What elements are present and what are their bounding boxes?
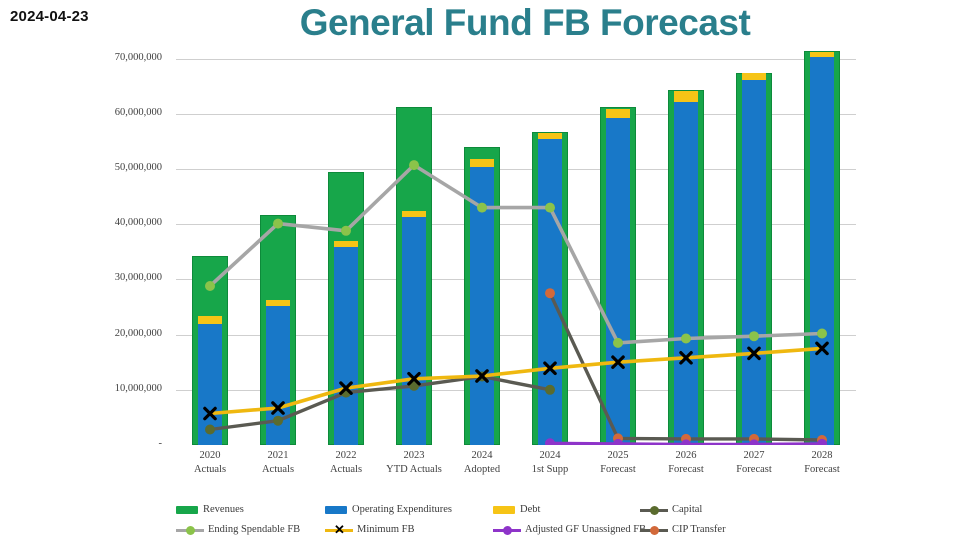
bar-segment-debt[interactable] — [198, 316, 223, 324]
y-axis-tick-label: - — [2, 438, 162, 449]
x-axis-label-year: 2027 — [720, 449, 788, 463]
x-axis-tick-label: 2023YTD Actuals — [380, 449, 448, 477]
bar-category[interactable] — [652, 42, 720, 445]
legend-swatch-icon — [325, 506, 347, 514]
bar-category[interactable] — [176, 42, 244, 445]
legend-label: Adjusted GF Unassigned FB — [525, 524, 646, 535]
bar-category[interactable] — [380, 42, 448, 445]
legend-item-capital[interactable]: Capital — [640, 504, 702, 515]
legend-line-icon — [640, 525, 668, 535]
x-axis-label-year: 2023 — [380, 449, 448, 463]
legend-swatch-icon — [176, 506, 198, 514]
x-axis-tick-label: 2020Actuals — [176, 449, 244, 477]
bar-category[interactable] — [788, 42, 856, 445]
bar-segment-operating-expenditures[interactable] — [742, 80, 767, 445]
bar-category[interactable] — [244, 42, 312, 445]
legend-line-icon — [640, 505, 668, 515]
bar-segment-operating-expenditures[interactable] — [266, 306, 291, 445]
bar-segment-operating-expenditures[interactable] — [538, 139, 563, 445]
legend-line-icon — [493, 525, 521, 535]
bar-segment-operating-expenditures[interactable] — [470, 167, 495, 445]
x-axis-tick-label: 2027Forecast — [720, 449, 788, 477]
legend-label: Minimum FB — [357, 524, 414, 535]
bar-segment-debt[interactable] — [402, 211, 427, 217]
x-axis-label-scenario: Actuals — [176, 463, 244, 477]
bar-expenditure-stack[interactable] — [470, 158, 495, 445]
x-axis-label-year: 2021 — [244, 449, 312, 463]
x-axis-label-year: 2024 — [516, 449, 584, 463]
bar-segment-debt[interactable] — [742, 73, 767, 79]
chart-screen: 2024-04-23 General Fund FB Forecast 70,0… — [0, 0, 960, 540]
x-axis-label-scenario: Actuals — [312, 463, 380, 477]
y-axis-tick-label: 10,000,000 — [2, 383, 162, 394]
x-axis-label-year: 2026 — [652, 449, 720, 463]
x-axis-label-scenario: Forecast — [788, 463, 856, 477]
x-axis-label-scenario: Forecast — [652, 463, 720, 477]
x-axis-label-scenario: Adopted — [448, 463, 516, 477]
legend-x-marker-icon: ✕ — [334, 523, 345, 537]
bar-expenditure-stack[interactable] — [538, 133, 563, 445]
x-axis-label-year: 2024 — [448, 449, 516, 463]
legend-dot-marker-icon — [186, 526, 195, 535]
legend-label: Debt — [520, 504, 540, 515]
x-axis-label-year: 2022 — [312, 449, 380, 463]
y-axis-tick-label: 40,000,000 — [2, 217, 162, 228]
bar-category[interactable] — [448, 42, 516, 445]
x-axis-tick-label: 2026Forecast — [652, 449, 720, 477]
bar-category[interactable] — [584, 42, 652, 445]
x-axis-label-year: 2025 — [584, 449, 652, 463]
bar-segment-debt[interactable] — [538, 133, 563, 139]
x-axis-tick-label: 2021Actuals — [244, 449, 312, 477]
bar-segment-operating-expenditures[interactable] — [810, 57, 835, 445]
plot-area — [176, 42, 856, 445]
legend-swatch-icon — [493, 506, 515, 514]
legend-item-operating-expenditures[interactable]: Operating Expenditures — [325, 504, 452, 515]
legend-label: Operating Expenditures — [352, 504, 452, 515]
legend-item-ending-spendable-fb[interactable]: Ending Spendable FB — [176, 524, 300, 535]
bar-segment-debt[interactable] — [470, 159, 495, 168]
legend-label: Revenues — [203, 504, 244, 515]
bar-segment-debt[interactable] — [810, 52, 835, 57]
bar-category[interactable] — [720, 42, 788, 445]
x-axis-tick-label: 2028Forecast — [788, 449, 856, 477]
bar-segment-operating-expenditures[interactable] — [198, 324, 223, 445]
legend-item-minimum-fb[interactable]: ✕Minimum FB — [325, 524, 414, 535]
bar-expenditure-stack[interactable] — [810, 52, 835, 445]
bar-expenditure-stack[interactable] — [742, 73, 767, 445]
bar-segment-debt[interactable] — [334, 241, 359, 248]
bar-segment-debt[interactable] — [674, 91, 699, 101]
legend-dot-marker-icon — [650, 526, 659, 535]
x-axis-tick-label: 2024Adopted — [448, 449, 516, 477]
x-axis-label-scenario: Forecast — [720, 463, 788, 477]
legend-line-icon: ✕ — [325, 525, 353, 535]
x-axis-tick-label: 20241st Supp — [516, 449, 584, 477]
chart-title: General Fund FB Forecast — [0, 0, 960, 46]
legend-dot-marker-icon — [503, 526, 512, 535]
legend-item-adjusted-gf-unassigned-fb[interactable]: Adjusted GF Unassigned FB — [493, 524, 646, 535]
bar-category[interactable] — [312, 42, 380, 445]
bar-segment-debt[interactable] — [606, 109, 631, 117]
bar-expenditure-stack[interactable] — [674, 91, 699, 445]
y-axis-tick-label: 50,000,000 — [2, 162, 162, 173]
x-axis-label-scenario: Actuals — [244, 463, 312, 477]
x-axis-label-year: 2028 — [788, 449, 856, 463]
bar-expenditure-stack[interactable] — [334, 241, 359, 445]
bar-expenditure-stack[interactable] — [198, 316, 223, 445]
x-axis-label-scenario: YTD Actuals — [380, 463, 448, 477]
bar-segment-operating-expenditures[interactable] — [606, 118, 631, 445]
x-axis-label-scenario: Forecast — [584, 463, 652, 477]
legend-label: Capital — [672, 504, 702, 515]
y-axis-tick-label: 30,000,000 — [2, 272, 162, 283]
bar-expenditure-stack[interactable] — [402, 211, 427, 445]
bar-segment-debt[interactable] — [266, 300, 291, 306]
x-axis-label-scenario: 1st Supp — [516, 463, 584, 477]
legend-label: CIP Transfer — [672, 524, 726, 535]
y-axis-tick-label: 20,000,000 — [2, 328, 162, 339]
x-axis-tick-label: 2022Actuals — [312, 449, 380, 477]
bar-segment-operating-expenditures[interactable] — [334, 247, 359, 445]
legend-line-icon — [176, 525, 204, 535]
x-axis-labels: 2020Actuals2021Actuals2022Actuals2023YTD… — [176, 449, 856, 489]
bar-category[interactable] — [516, 42, 584, 445]
x-axis-tick-label: 2025Forecast — [584, 449, 652, 477]
bar-expenditure-stack[interactable] — [266, 300, 291, 445]
y-axis-tick-label: 70,000,000 — [2, 52, 162, 63]
chart-legend: RevenuesOperating ExpendituresDebtCapita… — [0, 498, 960, 540]
x-axis-label-year: 2020 — [176, 449, 244, 463]
bar-segment-operating-expenditures[interactable] — [674, 102, 699, 445]
y-axis-tick-label: 60,000,000 — [2, 107, 162, 118]
legend-dot-marker-icon — [650, 506, 659, 515]
legend-item-revenues[interactable]: Revenues — [176, 504, 244, 515]
legend-item-cip-transfer[interactable]: CIP Transfer — [640, 524, 726, 535]
bar-segment-operating-expenditures[interactable] — [402, 217, 427, 445]
legend-item-debt[interactable]: Debt — [493, 504, 540, 515]
legend-label: Ending Spendable FB — [208, 524, 300, 535]
bar-expenditure-stack[interactable] — [606, 109, 631, 445]
y-axis-labels: 70,000,00060,000,00050,000,00040,000,000… — [0, 42, 170, 445]
